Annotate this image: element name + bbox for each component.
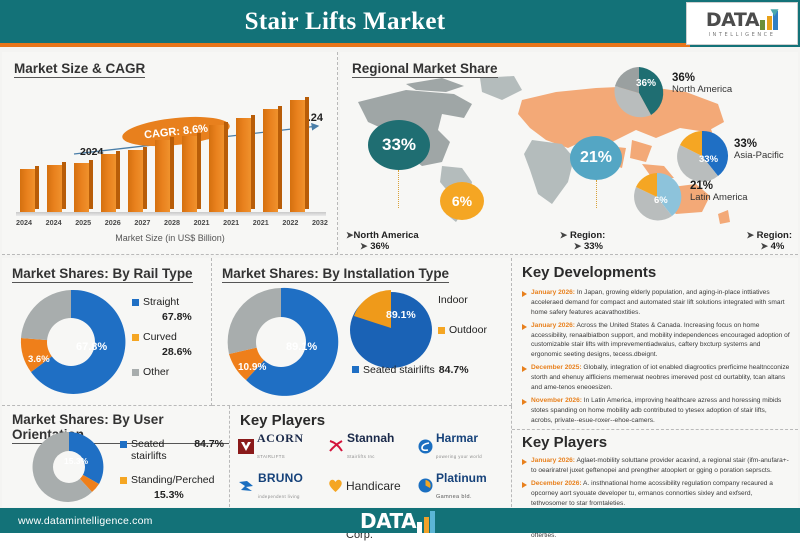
player-logo-handicare: Handicare [328,470,418,503]
bar-face [47,165,62,212]
key-players-logos-panel: Key Players ACORN STAIRLIFTS Stannah Sta… [230,406,512,507]
bar-4 [128,150,143,212]
legend-label-seated: Seated stairlifts [363,364,435,376]
mini-pct-na: 36% [672,72,732,84]
bar-face [20,169,35,212]
header-bar: Stair Lifts Market [0,0,800,47]
bar-1 [47,165,62,212]
player-logo-bruno: BRUNO independent living [238,470,328,503]
bar-10 [290,100,305,212]
legend-label-curved: Curved [143,331,177,343]
platinum-icon [418,478,433,493]
footer-logo: DATA [360,509,435,533]
player-name-bruno: BRUNO [258,471,303,485]
x-tick-label: 2022 [282,218,298,227]
key-developments-panel: Key Developments January 2026: In Japan,… [512,258,798,430]
x-tick-label: 2025 [75,218,91,227]
player-name-stannah: Stannah [347,431,394,445]
key-developments-title: Key Developments [522,264,656,281]
x-tick-label: 2026 [105,218,121,227]
user-orientation-legend: Seated stairlifts 84.7% Standing/Perched… [120,438,224,501]
region-foot-1-line2: 33% [584,241,603,252]
bar-side [143,147,147,209]
mini-label-asia-pacific: 33% Asia-Pacific [734,138,784,161]
player-logo-harmar: Harmar powering your world [418,430,508,463]
development-item-3: November 2026: In Latin America, improvi… [522,396,790,426]
region-foot-item-2: ➤ Region: ➤ 4% [746,230,792,252]
user-orientation-donut-chart: 15.3% [16,430,122,504]
mini-pct-la: 21% [690,180,748,192]
installation-donut-chart: 89.1% 10.9% [220,284,342,400]
bullet-triangle-icon [522,366,527,372]
bullet-triangle-icon [522,324,527,330]
legend-item-standing-perched: Standing/Perched [120,474,224,486]
bar-face [290,100,305,212]
player-sub-platinum: Gamnea bld. [436,494,472,500]
bar-face [128,150,143,212]
market-size-panel: Market Size & CAGR CAGR: 8.6% 2024 3.24 … [2,52,338,255]
stannah-icon [328,439,344,454]
bar-9 [263,109,278,212]
x-tick-label: 2028 [164,218,180,227]
region-foot-item-1: ➤ Region: ➤ 33% [560,230,606,252]
player-logo-platinum: Platinum Gamnea bld. [418,470,508,503]
player-name-platinum: Platinum [436,471,487,485]
bar-side [62,162,66,209]
rail-type-panel: Market Shares: By Rail Type 67.8% 3.6% S… [2,258,212,406]
player-logo-stannah: Stannah Stairlifts Inc [328,430,418,463]
footer-bar: www.datamintelligence.com DATA [0,508,800,533]
x-axis-title: Market Size (in US$ Billion) [2,233,338,243]
bar-3 [101,154,116,212]
legend-swatch-other [132,369,139,376]
region-foot-0-line1: North America [354,230,419,241]
key-developments-list: January 2026: In Japan, growing elderly … [522,288,790,429]
bar-face [74,163,89,212]
svg-text:6%: 6% [654,195,668,206]
legend-swatch-curved [132,334,139,341]
x-tick-label: 2027 [134,218,150,227]
region-foot-2-line2: 4% [771,241,785,252]
region-foot-2-line1: Region: [757,230,792,241]
legend-swatch-seated-stairlifts [120,441,127,448]
x-tick-label: 2021 [194,218,210,227]
x-tick-label: 2021 [253,218,269,227]
regional-title: Regional Market Share [352,61,498,78]
installation-seated-legend: Seated stairlifts 84.7% [352,364,469,376]
logo-wordmark: DATA [706,11,759,30]
bullet-triangle-icon [522,482,527,488]
development-date-3: November 2026: [531,397,582,404]
x-axis-tick-labels: 2024202420252026202720282021202120212022… [16,218,328,227]
development-date-1: January 2026: [531,322,575,329]
bar-face [236,118,251,212]
bubble-leader-line-ap [596,180,597,208]
x-tick-label: 2021 [223,218,239,227]
development-item-0: January 2026: In Japan, growing elderly … [522,288,790,318]
legend-item-seated-stairlifts: Seated stairlifts 84.7% [120,438,224,462]
key-player-item-1: December 2026: A. insthnational home aco… [522,479,790,509]
player-logo-acorn: ACORN STAIRLIFTS [238,430,328,463]
development-item-1: January 2026: Across the United States &… [522,321,790,361]
bar-0 [20,169,35,212]
page-title: Stair Lifts Market [0,0,690,44]
x-tick-label: 2024 [46,218,62,227]
header-accent-rule [0,43,690,47]
user-orientation-panel: Market Shares: By User Orientation 15.3%… [2,406,230,507]
legend-value-seated: 84.7% [439,364,469,376]
development-date-2: December 2025: [531,364,582,371]
legend-label-outdoor: Outdoor [449,324,487,336]
x-tick-label: 2024 [16,218,32,227]
legend-value-standing-perched: 15.3% [120,489,224,501]
legend-item-outdoor: Outdoor [438,324,487,336]
regional-market-share-panel: Regional Market Share [340,52,798,255]
bar-8 [236,118,251,212]
player-name-acorn: ACORN [257,431,304,445]
player-sub-harmar: powering your world [436,454,482,459]
legend-item-straight: Straight [132,296,208,308]
logo-subtitle: INTELLIGENCE [708,32,775,38]
bar-side [170,137,174,209]
bullet-triangle-icon [522,459,527,465]
key-player-item-0: January 2026: Aglaet-mobility soluttane … [522,456,790,476]
legend-label-other: Other [143,366,169,378]
legend-item-other: Other [132,366,208,378]
region-foot-0-line2: 36% [370,241,389,252]
footer-logo-wordmark: DATA [360,509,416,533]
mini-label-north-america: 36% North America [672,72,732,95]
bar-side [278,106,282,209]
bar-7 [209,125,224,212]
bar-side [224,122,228,209]
key-players-text-title: Key Players [522,434,607,451]
svg-text:67.8%: 67.8% [76,341,107,353]
development-item-2: December 2025: Globally, integration of … [522,363,790,393]
key-player-date-0: January 2026: [531,457,575,464]
installation-type-title: Market Shares: By Installation Type [222,266,449,283]
legend-swatch-outdoor [438,327,445,334]
mini-region-na: North America [672,84,732,95]
svg-text:89.1%: 89.1% [386,309,416,321]
rail-type-legend: Straight 67.8% Curved 28.6% Other [132,296,208,381]
mini-pie-latin-america: 6% [630,170,684,224]
chart-baseline [16,212,326,216]
bar-face [155,140,170,212]
legend-label-straight: Straight [143,296,179,308]
svg-text:3.6%: 3.6% [28,354,50,365]
rail-type-title: Market Shares: By Rail Type [12,266,193,283]
bar-2 [74,163,89,212]
bar-face [209,125,224,212]
legend-swatch-straight [132,299,139,306]
installation-type-panel: Market Shares: By Installation Type 89.1… [212,258,512,406]
player-sub-bruno: independent living [258,494,300,499]
bruno-icon [238,479,255,493]
harmar-icon [418,439,433,454]
bar-face [263,109,278,212]
regional-footer-list: ➤North America ➤ 36% ➤ Region: ➤ 33% ➤ R… [340,230,798,252]
bar-side [89,160,93,209]
mini-region-ap: Asia-Pacific [734,150,784,161]
legend-value-seated-stairlifts: 84.7% [194,438,224,450]
legend-label-seated-stairlifts: Seated stairlifts [131,438,190,462]
player-sub-stannah: Stairlifts Inc [347,454,375,459]
map-bubble-latin-america: 6% [440,182,484,220]
bullet-triangle-icon [522,291,527,297]
bubble-leader-line-na [398,170,399,208]
bar-side [305,97,309,209]
player-name-harmar: Harmar [436,431,478,445]
bullet-triangle-icon [522,399,527,405]
rail-type-donut-chart: 67.8% 3.6% [12,286,130,398]
infographic-page: Stair Lifts Market DATA INTELLIGENCE Mar… [0,0,800,533]
svg-text:10.9%: 10.9% [238,362,266,373]
legend-label-standing-perched: Standing/Perched [131,474,214,486]
bar-face [101,154,116,212]
bar-5 [155,140,170,212]
legend-value-curved: 28.6% [132,346,208,358]
bar-6 [182,136,197,212]
svg-text:15.3%: 15.3% [64,456,89,466]
installation-pie-chart: 89.1% [344,286,438,372]
bar-side [197,133,201,209]
brand-logo: DATA INTELLIGENCE [686,2,798,45]
logo-bars-icon [760,10,778,30]
key-players-logos-title: Key Players [240,412,325,429]
mini-pct-ap: 33% [734,138,784,150]
installation-legend: Indoor Outdoor [438,294,487,339]
svg-text:89.1%: 89.1% [286,341,317,353]
player-sub-acorn: STAIRLIFTS [257,454,285,459]
bar-side [251,115,255,209]
bar-face [182,136,197,212]
map-bubble-asia-pacific: 21% [570,136,622,180]
acorn-icon [238,439,254,454]
development-date-0: January 2026: [531,289,575,296]
region-foot-1-line1: Region: [570,230,605,241]
handicare-icon [328,478,343,493]
bar-side [35,166,39,209]
key-player-date-1: December 2026: [531,480,582,487]
bar-side [116,151,120,209]
mini-label-latin-america: 21% Latin America [690,180,748,203]
svg-text:36%: 36% [636,78,656,89]
map-bubble-north-america: 33% [368,120,430,170]
mini-pie-north-america: 36% [610,64,668,122]
legend-label-indoor: Indoor [438,294,487,306]
footer-logo-bars-icon [417,511,435,533]
svg-text:33%: 33% [699,154,719,165]
legend-swatch-seated [352,366,359,373]
x-tick-label: 2032 [312,218,328,227]
legend-value-straight: 67.8% [132,311,208,323]
legend-swatch-standing-perched [120,477,127,484]
bar-chart-bars [20,92,320,212]
mini-region-la: Latin America [690,192,748,203]
legend-item-curved: Curved [132,331,208,343]
market-size-title: Market Size & CAGR [14,61,145,78]
player-name-handicare: Handicare [346,479,401,493]
footer-website-url[interactable]: www.datamintelligence.com [18,515,153,527]
region-foot-item-0: ➤North America ➤ 36% [346,230,419,252]
